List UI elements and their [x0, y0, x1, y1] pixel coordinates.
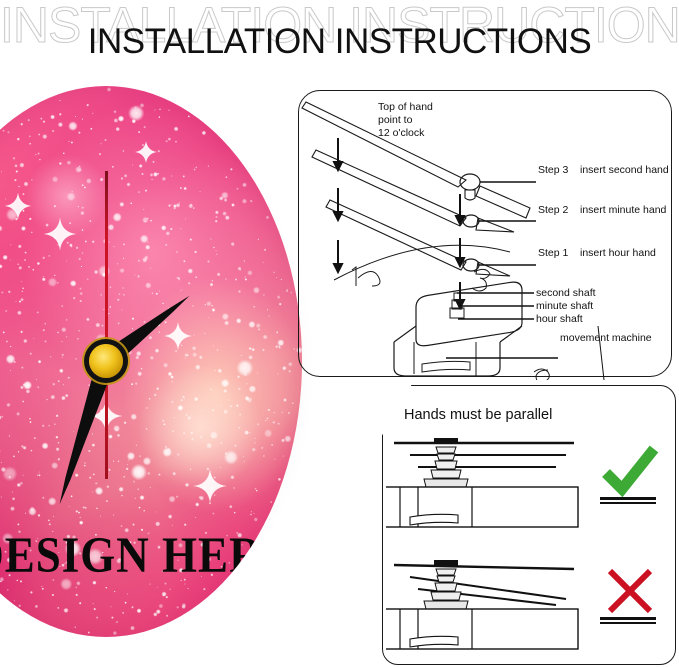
step-3-label: Step 3insert second hand — [538, 164, 669, 176]
incorrect-cross-icon — [604, 567, 656, 615]
step-2-label: Step 2insert minute hand — [538, 204, 666, 216]
incorrect-example-drawing — [386, 555, 586, 655]
step-1-label: Step 1insert hour hand — [538, 247, 656, 259]
correct-check-icon — [600, 443, 660, 499]
step-leader-lines — [478, 182, 536, 265]
assembly-arrows — [334, 138, 464, 308]
correct-underline — [600, 497, 656, 500]
note-line-1: Top of hand — [378, 101, 433, 114]
step-2-number: Step 2 — [538, 204, 580, 216]
step-3-action: insert second hand — [580, 164, 669, 176]
note-line-2: point to — [378, 114, 412, 127]
second-hand-drawing — [302, 102, 530, 218]
minute-shaft-label: minute shaft — [536, 300, 593, 312]
clock-face: UR DESIGN HERE — [0, 86, 302, 637]
parallel-hands-heading: Hands must be parallel — [404, 407, 552, 423]
step-3-number: Step 3 — [538, 164, 580, 176]
movement-machine-drawing — [394, 281, 549, 380]
hour-shaft-label: hour shaft — [536, 313, 583, 325]
step-2-action: insert minute hand — [580, 204, 666, 216]
second-shaft-label: second shaft — [536, 287, 596, 299]
movement-machine-label: movement machine — [560, 332, 652, 344]
installation-instructions-page: INSTALLATION INSTRUCTIONS INSTALLATION I… — [0, 0, 679, 667]
page-title: INSTALLATION INSTRUCTIONS — [0, 22, 679, 62]
incorrect-underline — [600, 617, 656, 620]
clock-center-hub — [89, 344, 123, 378]
design-placeholder-text: UR DESIGN HERE — [0, 526, 302, 584]
clock-second-hand — [105, 171, 108, 361]
step-1-number: Step 1 — [538, 247, 580, 259]
note-line-3: 12 o'clock — [378, 127, 424, 140]
parallel-hands-panel: Hands must be parallel — [382, 385, 674, 663]
correct-example-drawing — [386, 433, 586, 533]
clock-product-image: UR DESIGN HERE — [0, 86, 310, 646]
step-1-action: insert hour hand — [580, 247, 656, 259]
